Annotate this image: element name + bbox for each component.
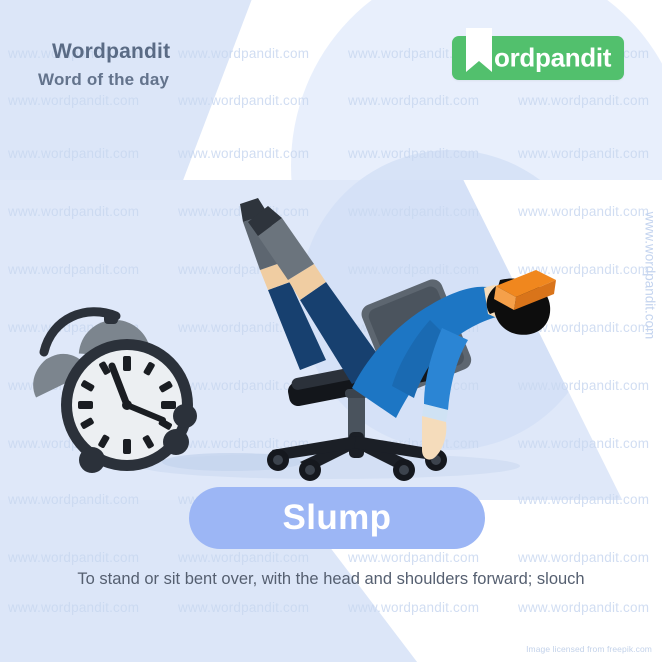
clock-foot-icon [163,429,189,455]
bookmark-w-icon [466,28,492,76]
word-badge[interactable]: Slump [189,487,485,549]
wordpandit-logo[interactable]: ordpandit [452,36,624,80]
man-figure-icon [240,198,556,460]
clock-foot-icon [79,447,105,473]
page-subtitle: Word of the day [38,70,169,90]
definition-text: To stand or sit bent over, with the head… [0,566,662,593]
image-credit: Image licensed from freepik.com [526,644,652,654]
illustration-slumped-man [0,170,662,500]
alarm-clock-icon [23,312,197,473]
page-title: Wordpandit [52,40,170,64]
word-badge-text: Slump [283,498,392,538]
word-of-the-day-card: www.wordpandit.com www.wordpandit.com ww… [0,0,662,662]
logo-text: ordpandit [494,43,611,74]
